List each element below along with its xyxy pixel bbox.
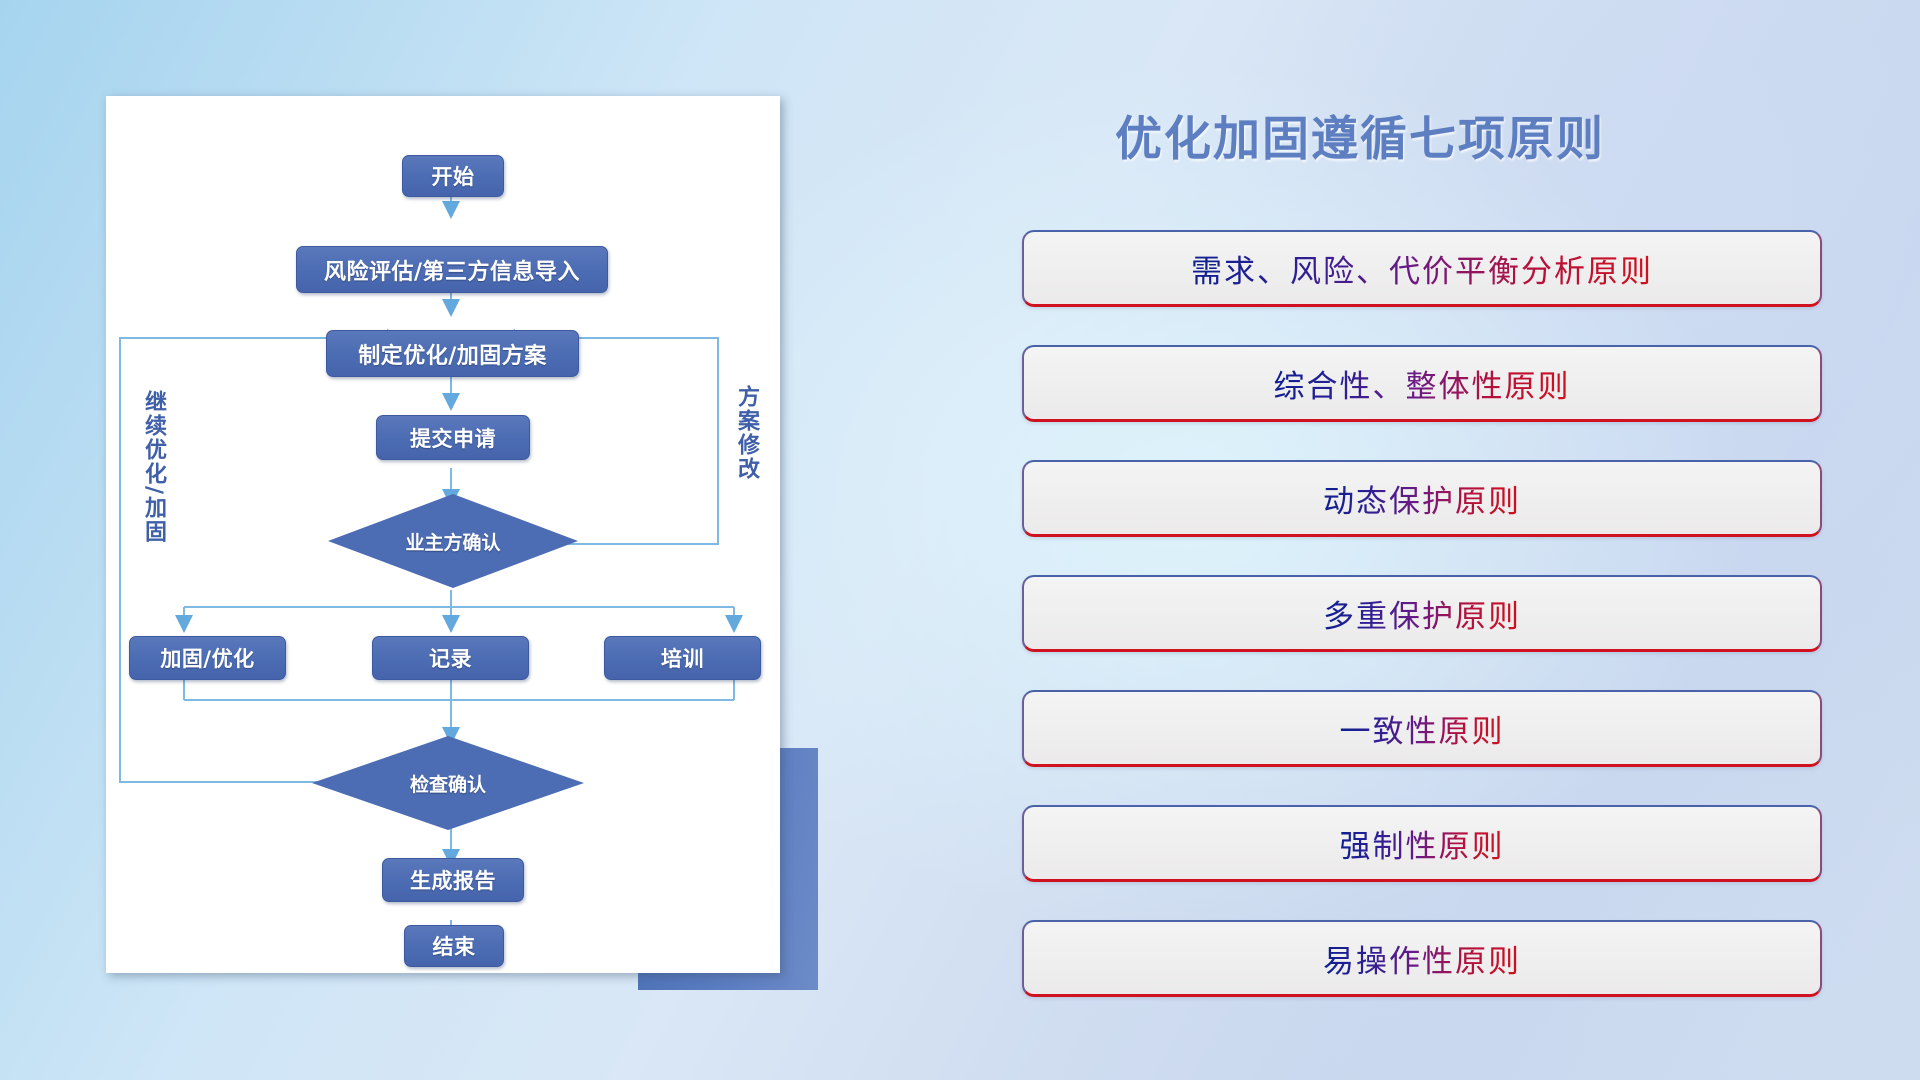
flow-node-end[interactable]: 结束 — [404, 925, 504, 967]
edge-label-continue-optimize: 继续优化/加固 — [142, 390, 164, 544]
flow-node-training[interactable]: 培训 — [604, 636, 761, 680]
flow-node-label: 风险评估/第三方信息导入 — [324, 254, 580, 286]
flow-node-risk-assessment[interactable]: 风险评估/第三方信息导入 — [296, 246, 608, 293]
principle-item[interactable]: 综合性、整体性原则 — [1022, 345, 1822, 422]
principle-item[interactable]: 易操作性原则 — [1022, 920, 1822, 997]
flow-node-make-plan[interactable]: 制定优化/加固方案 — [326, 330, 579, 377]
flow-node-label: 制定优化/加固方案 — [358, 338, 547, 370]
flow-node-record[interactable]: 记录 — [372, 636, 529, 680]
principle-item[interactable]: 强制性原则 — [1022, 805, 1822, 882]
slide-canvas: 开始 风险评估/第三方信息导入 制定优化/加固方案 提交申请 业主方确认 加固/… — [0, 0, 1920, 1080]
flow-node-start[interactable]: 开始 — [402, 155, 504, 197]
principle-label: 易操作性原则 — [1323, 936, 1521, 981]
principle-label: 动态保护原则 — [1323, 476, 1521, 521]
flow-node-label: 业主方确认 — [405, 528, 500, 555]
principle-item[interactable]: 需求、风险、代价平衡分析原则 — [1022, 230, 1822, 307]
flow-node-generate-report[interactable]: 生成报告 — [382, 858, 524, 902]
flow-node-reinforce-optimize[interactable]: 加固/优化 — [129, 636, 286, 680]
principle-label: 一致性原则 — [1340, 706, 1505, 751]
flow-node-label: 加固/优化 — [160, 643, 254, 673]
flow-node-label: 检查确认 — [410, 770, 486, 797]
flow-node-label: 生成报告 — [410, 865, 496, 895]
principle-label: 需求、风险、代价平衡分析原则 — [1191, 246, 1653, 291]
edge-label-plan-revision: 方案修改 — [735, 385, 757, 481]
flow-node-label: 结束 — [433, 931, 476, 961]
principle-item[interactable]: 一致性原则 — [1022, 690, 1822, 767]
principle-label: 多重保护原则 — [1323, 591, 1521, 636]
principle-label: 综合性、整体性原则 — [1274, 361, 1571, 406]
flow-node-label: 提交申请 — [410, 423, 496, 453]
principle-item[interactable]: 动态保护原则 — [1022, 460, 1822, 537]
flow-node-label: 开始 — [432, 161, 475, 191]
principle-label: 强制性原则 — [1340, 821, 1505, 866]
flow-node-label: 记录 — [429, 643, 472, 673]
flow-node-submit-application[interactable]: 提交申请 — [376, 415, 530, 460]
principles-list: 需求、风险、代价平衡分析原则 综合性、整体性原则 动态保护原则 多重保护原则 一… — [1022, 230, 1822, 1035]
principle-item[interactable]: 多重保护原则 — [1022, 575, 1822, 652]
flow-node-label: 培训 — [661, 643, 704, 673]
principles-panel-title: 优化加固遵循七项原则 — [1030, 100, 1690, 169]
